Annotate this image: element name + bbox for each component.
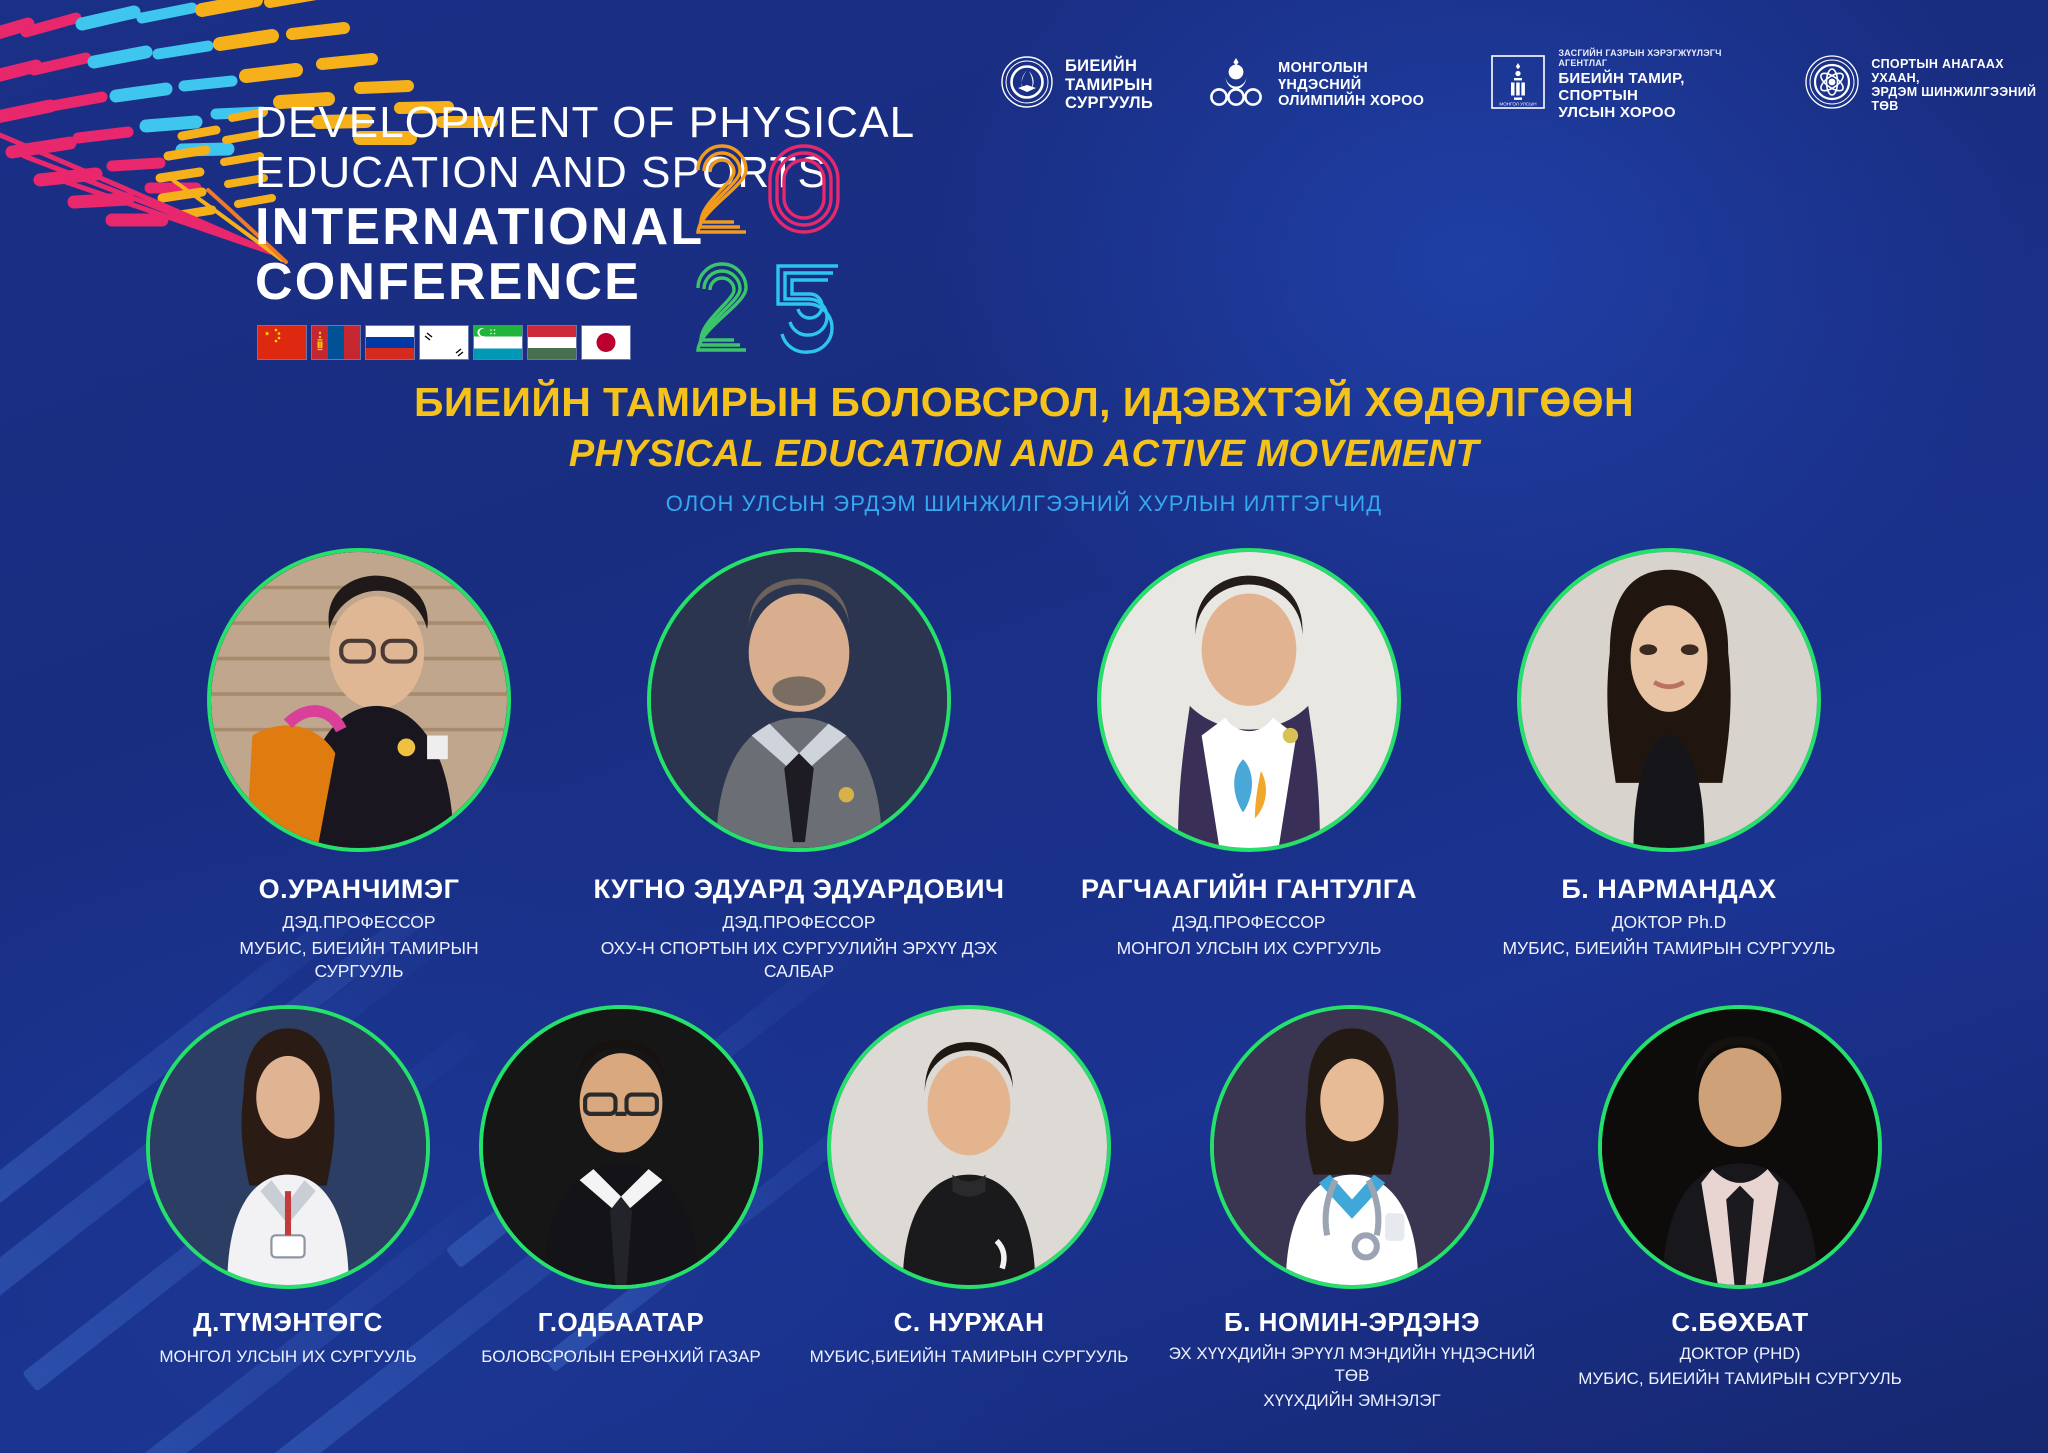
speaker-portrait-ring [827,1005,1111,1289]
speaker-org: МОНГОЛ УЛСЫН ИХ СУРГУУЛЬ [1117,937,1382,960]
year-2025-graphic [690,140,850,390]
speaker-org: ОХУ-Н СПОРТЫН ИХ СУРГУУЛИЙН ЭРХҮҮ ДЭХ СА… [584,937,1014,983]
speaker-portrait-ring [1598,1005,1882,1289]
speaker-card: КУГНО ЭДУАРД ЭДУАРДОВИЧ ДЭД.ПРОФЕССОР ОХ… [584,548,1014,982]
speaker-org: МУБИС,БИЕИЙН ТАМИРЫН СУРГУУЛЬ [810,1346,1129,1368]
speaker-org: МОНГОЛ УЛСЫН ИХ СУРГУУЛЬ [159,1346,416,1368]
speaker-role: ДЭД.ПРОФЕССОР [282,911,435,934]
speaker-org: МУБИС, БИЕИЙН ТАМИРЫН СУРГУУЛЬ [1502,937,1835,960]
avatar [1101,552,1397,848]
speaker-org: МУБИС, БИЕИЙН ТАМИРЫН СУРГУУЛЬ [194,937,524,983]
speaker-portrait-ring [647,548,951,852]
speaker-portrait-ring [479,1005,763,1289]
logo-label: СПОРТЫН АНАГААХ УХААН, ЭРДЭМ ШИНЖИЛГЭЭНИ… [1871,57,2048,113]
speaker-role: ДОКТОР Ph.D [1612,911,1727,934]
headline-subtitle: ОЛОН УЛСЫН ЭРДЭМ ШИНЖИЛГЭЭНИЙ ХУРЛЫН ИЛТ… [0,491,2048,517]
speaker-role: ДЭД.ПРОФЕССОР [1172,911,1325,934]
speaker-card: Б. НАРМАНДАХ ДОКТОР Ph.D МУБИС, БИЕИЙН Т… [1484,548,1854,982]
speaker-portrait-ring [146,1005,430,1289]
logo-label: ЗАСГИЙН ГАЗРЫН ХЭРЭГЖҮҮЛЭГЧ АГЕНТЛАГ БИЕ… [1558,48,1752,122]
flag-south-korea [419,325,469,360]
speaker-name: РАГЧААГИЙН ГАНТУЛГА [1081,874,1417,905]
flag-russia [365,325,415,360]
atom-seal-icon [1804,54,1860,115]
logo-biyeiin-tamiryn-surguuli: БИЕИЙН ТАМИРЫН СУРГУУЛЬ [1000,55,1153,114]
flag-hungary [527,325,577,360]
speaker-name: С. НУРЖАН [894,1307,1045,1338]
speaker-org: ХҮҮХДИЙН ЭМНЭЛЭГ [1263,1390,1440,1412]
speaker-card: Д.ТҮМЭНТӨГС МОНГОЛ УЛСЫН ИХ СУРГУУЛЬ [138,1005,438,1412]
logo-label: БИЕИЙН ТАМИРЫН СУРГУУЛЬ [1065,57,1153,112]
speaker-role: ЭХ ХҮҮХДИЙН ЭРҮҮЛ МЭНДИЙН ҮНДЭСНИЙ ТӨВ [1152,1343,1552,1387]
flag-uzbekistan [473,325,523,360]
speakers-row-2: Д.ТҮМЭНТӨГС МОНГОЛ УЛСЫН ИХ СУРГУУЛЬ Г. [0,1005,2048,1412]
logo-state-committee-sports: МОНГОЛ УЛСЫН ЗАСГИЙН ГАЗРЫН ХЭРЭГЖҮҮЛЭГЧ… [1489,48,1752,122]
flag-china [257,325,307,360]
logo-label: МОНГОЛЫН ҮНДЭСНИЙ ОЛИМПИЙН ХОРОО [1278,60,1437,109]
speaker-name: О.УРАНЧИМЭГ [259,874,460,905]
avatar [1521,552,1817,848]
conference-poster: БИЕИЙН ТАМИРЫН СУРГУУЛЬ МОНГОЛЫН ҮНДЭСНИ… [0,0,2048,1453]
flag-japan [581,325,631,360]
flag-mongolia [311,325,361,360]
headline-block: БИЕИЙН ТАМИРЫН БОЛОВСРОЛ, ИДЭВХТЭЙ ХӨДӨЛ… [0,378,2048,517]
speaker-org: БОЛОВСРОЛЫН ЕРӨНХИЙ ГАЗАР [481,1346,760,1368]
speaker-name: Б. НОМИН-ЭРДЭНЭ [1224,1307,1480,1338]
logo-sports-medicine-center: СПОРТЫН АНАГААХ УХААН, ЭРДЭМ ШИНЖИЛГЭЭНИ… [1804,54,2048,115]
avatar [150,1009,426,1285]
flame-book-seal-icon [1000,55,1054,114]
soyombo-emblem-icon: МОНГОЛ УЛСЫН [1489,54,1547,115]
avatar [831,1009,1107,1285]
speaker-portrait-ring [1210,1005,1494,1289]
speaker-org: МУБИС, БИЕИЙН ТАМИРЫН СУРГУУЛЬ [1578,1368,1902,1390]
headline-english: PHYSICAL EDUCATION AND ACTIVE MOVEMENT [0,431,2048,479]
speaker-card: С.БӨХБАТ ДОКТОР (PHD) МУБИС, БИЕИЙН ТАМИ… [1570,1005,1910,1412]
avatar [483,1009,759,1285]
speaker-portrait-ring [207,548,511,852]
speaker-portrait-ring [1517,548,1821,852]
speaker-card: РАГЧААГИЙН ГАНТУЛГА ДЭД.ПРОФЕССОР МОНГОЛ… [1074,548,1424,982]
partner-logos: БИЕИЙН ТАМИРЫН СУРГУУЛЬ МОНГОЛЫН ҮНДЭСНИ… [1000,48,2048,122]
speaker-name: Д.ТҮМЭНТӨГС [193,1307,383,1338]
speaker-card: О.УРАНЧИМЭГ ДЭД.ПРОФЕССОР МУБИС, БИЕИЙН … [194,548,524,982]
speaker-card: Б. НОМИН-ЭРДЭНЭ ЭХ ХҮҮХДИЙН ЭРҮҮЛ МЭНДИЙ… [1152,1005,1552,1412]
speaker-role: ДОКТОР (PHD) [1680,1343,1801,1365]
speaker-name: С.БӨХБАТ [1671,1307,1808,1338]
speaker-name: КУГНО ЭДУАРД ЭДУАРДОВИЧ [594,874,1005,905]
avatar [1602,1009,1878,1285]
logo-mongolian-olympic-committee: МОНГОЛЫН ҮНДЭСНИЙ ОЛИМПИЙН ХОРОО [1205,54,1437,115]
speakers-row-1: О.УРАНЧИМЭГ ДЭД.ПРОФЕССОР МУБИС, БИЕИЙН … [0,548,2048,982]
speaker-name: Г.ОДБААТАР [538,1307,704,1338]
speaker-card: Г.ОДБААТАР БОЛОВСРОЛЫН ЕРӨНХИЙ ГАЗАР [456,1005,786,1412]
headline-mongolian: БИЕИЙН ТАМИРЫН БОЛОВСРОЛ, ИДЭВХТЭЙ ХӨДӨЛ… [0,378,2048,427]
speaker-portrait-ring [1097,548,1401,852]
avatar [211,552,507,848]
avatar [651,552,947,848]
avatar [1214,1009,1490,1285]
olympic-rings-icon [1205,54,1267,115]
speaker-card: С. НУРЖАН МУБИС,БИЕИЙН ТАМИРЫН СУРГУУЛЬ [804,1005,1134,1412]
svg-text:МОНГОЛ УЛСЫН: МОНГОЛ УЛСЫН [1500,102,1537,107]
speaker-role: ДЭД.ПРОФЕССОР [722,911,875,934]
speaker-name: Б. НАРМАНДАХ [1561,874,1776,905]
